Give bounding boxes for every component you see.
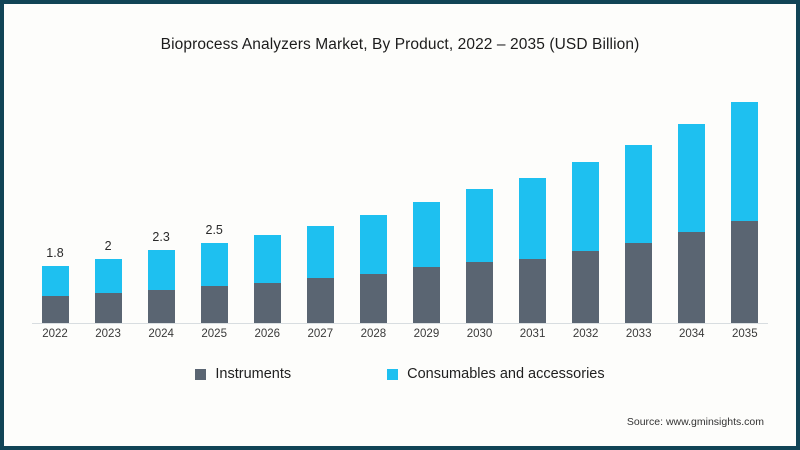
bar-segment-consumables[interactable] xyxy=(519,178,546,259)
bar-segment-consumables[interactable] xyxy=(466,189,493,262)
bar-segment-consumables[interactable] xyxy=(625,145,652,244)
bar-value-label: 2.3 xyxy=(152,230,169,244)
bar-group[interactable] xyxy=(569,84,603,323)
bar-segment-consumables[interactable] xyxy=(95,259,122,292)
bar-group[interactable] xyxy=(675,84,709,323)
plot-area: 1.822.32.5 xyxy=(32,84,768,324)
x-axis-tick-labels: 2022202320242025202620272028202920302031… xyxy=(32,328,768,340)
x-axis-tick-2024: 2024 xyxy=(144,328,178,340)
bar-stack[interactable] xyxy=(148,250,175,323)
x-axis-tick-2023: 2023 xyxy=(91,328,125,340)
bar-stack[interactable] xyxy=(360,215,387,323)
bar-segment-instruments[interactable] xyxy=(148,290,175,323)
bar-segment-instruments[interactable] xyxy=(360,274,387,323)
bar-segment-consumables[interactable] xyxy=(413,202,440,267)
bar-group[interactable] xyxy=(622,84,656,323)
bar-group[interactable]: 2.5 xyxy=(197,84,231,323)
x-axis-tick-2032: 2032 xyxy=(569,328,603,340)
bar-stack[interactable] xyxy=(254,235,281,323)
bar-group[interactable] xyxy=(463,84,497,323)
source-attribution: Source: www.gminsights.com xyxy=(627,416,764,428)
bar-value-label: 2 xyxy=(105,239,112,253)
bar-group[interactable]: 2 xyxy=(91,84,125,323)
bar-segment-consumables[interactable] xyxy=(678,124,705,232)
legend-label: Instruments xyxy=(215,366,291,382)
chart-title: Bioprocess Analyzers Market, By Product,… xyxy=(4,36,796,54)
bar-segment-consumables[interactable] xyxy=(307,226,334,279)
bar-value-label: 2.5 xyxy=(205,223,222,237)
bar-segment-instruments[interactable] xyxy=(678,232,705,323)
x-axis-tick-2031: 2031 xyxy=(516,328,550,340)
legend-item[interactable]: Instruments xyxy=(195,366,291,382)
bar-group[interactable] xyxy=(728,84,762,323)
bar-segment-instruments[interactable] xyxy=(254,283,281,323)
chart-figure: Bioprocess Analyzers Market, By Product,… xyxy=(0,0,800,450)
bar-stack[interactable] xyxy=(95,259,122,323)
bar-group[interactable] xyxy=(250,84,284,323)
legend-swatch-icon xyxy=(195,369,206,380)
bar-stack[interactable] xyxy=(519,178,546,323)
x-axis-tick-2030: 2030 xyxy=(463,328,497,340)
legend-label: Consumables and accessories xyxy=(407,366,604,382)
bar-group[interactable] xyxy=(516,84,550,323)
x-axis-tick-2026: 2026 xyxy=(250,328,284,340)
bar-segment-consumables[interactable] xyxy=(360,215,387,274)
bar-segment-consumables[interactable] xyxy=(731,102,758,222)
bar-segment-instruments[interactable] xyxy=(625,243,652,323)
bar-stack[interactable] xyxy=(307,226,334,323)
bar-series-container: 1.822.32.5 xyxy=(32,84,768,323)
bar-group[interactable] xyxy=(409,84,443,323)
x-axis-tick-2028: 2028 xyxy=(356,328,390,340)
bar-segment-consumables[interactable] xyxy=(201,243,228,286)
bar-stack[interactable] xyxy=(42,266,69,323)
bar-group[interactable]: 1.8 xyxy=(38,84,72,323)
bar-segment-instruments[interactable] xyxy=(42,296,69,323)
x-axis-line xyxy=(32,323,768,324)
x-axis-tick-2033: 2033 xyxy=(622,328,656,340)
bar-segment-instruments[interactable] xyxy=(307,278,334,323)
bar-group[interactable]: 2.3 xyxy=(144,84,178,323)
bar-segment-instruments[interactable] xyxy=(466,262,493,323)
bar-segment-consumables[interactable] xyxy=(42,266,69,296)
bar-segment-consumables[interactable] xyxy=(148,250,175,290)
x-axis-tick-2022: 2022 xyxy=(38,328,72,340)
bar-stack[interactable] xyxy=(625,145,652,323)
bar-group[interactable] xyxy=(303,84,337,323)
bar-stack[interactable] xyxy=(731,102,758,323)
bar-value-label: 1.8 xyxy=(46,246,63,260)
bar-stack[interactable] xyxy=(572,162,599,323)
bar-group[interactable] xyxy=(356,84,390,323)
x-axis-tick-2027: 2027 xyxy=(303,328,337,340)
bar-segment-consumables[interactable] xyxy=(572,162,599,251)
bar-segment-instruments[interactable] xyxy=(413,267,440,323)
bar-segment-instruments[interactable] xyxy=(572,251,599,323)
bar-segment-instruments[interactable] xyxy=(201,286,228,323)
chart-legend: InstrumentsConsumables and accessories xyxy=(4,366,796,382)
x-axis-tick-2025: 2025 xyxy=(197,328,231,340)
bar-segment-instruments[interactable] xyxy=(731,221,758,323)
legend-item[interactable]: Consumables and accessories xyxy=(387,366,604,382)
bar-segment-instruments[interactable] xyxy=(95,293,122,323)
x-axis-tick-2035: 2035 xyxy=(728,328,762,340)
bar-stack[interactable] xyxy=(413,202,440,323)
bar-segment-instruments[interactable] xyxy=(519,259,546,323)
bar-stack[interactable] xyxy=(466,189,493,323)
x-axis-tick-2034: 2034 xyxy=(675,328,709,340)
bar-stack[interactable] xyxy=(201,243,228,323)
bar-segment-consumables[interactable] xyxy=(254,235,281,283)
legend-swatch-icon xyxy=(387,369,398,380)
x-axis-tick-2029: 2029 xyxy=(409,328,443,340)
bar-stack[interactable] xyxy=(678,124,705,323)
